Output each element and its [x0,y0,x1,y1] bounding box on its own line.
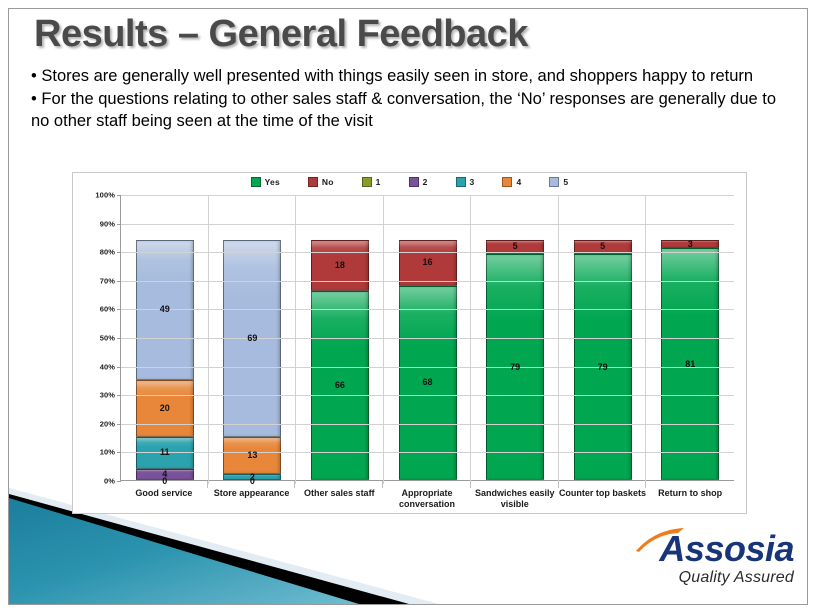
legend-swatch-icon [362,177,372,187]
x-axis-label: Appropriate conversation [383,488,471,511]
plot-wrapper: 100%90%80%70%60%50%40%30%20%10%0% 411204… [73,195,742,513]
gridline [121,252,734,253]
stacked-bar[interactable]: 795 [574,240,632,480]
gridline [121,195,734,196]
bar-segment-label: 68 [423,378,433,387]
y-axis-tick [117,481,121,482]
y-axis-tick [117,338,121,339]
legend-label: 4 [516,177,521,187]
bar-segment-label: 79 [510,363,520,372]
bar-zero-label: 0 [162,477,167,486]
x-axis-category: Appropriate conversation [383,483,471,527]
bar-segment-label: 3 [688,240,693,249]
bullet-list: • Stores are generally well presented wi… [31,66,791,133]
gridline [121,281,734,282]
bar-segment-label: 66 [335,381,345,390]
gridline [121,367,734,368]
legend-swatch-icon [251,177,261,187]
y-axis-tick-label: 80% [100,248,115,257]
y-axis-tick-label: 70% [100,276,115,285]
y-axis-tick [117,395,121,396]
y-axis-tick-label: 90% [100,219,115,228]
bar-segment-label: 81 [685,360,695,369]
logo-wordmark: Assosia [624,531,794,567]
y-axis-tick [117,309,121,310]
y-axis-tick-label: 40% [100,362,115,371]
y-axis-tick [117,452,121,453]
bar-segment-no[interactable]: 16 [399,240,457,286]
y-axis-tick-label: 100% [95,191,115,200]
x-axis-category: Other sales staff [295,483,383,527]
x-axis-label: Good service [120,488,208,499]
bar-segment-yes[interactable]: 81 [661,248,719,480]
legend-swatch-icon [409,177,419,187]
y-axis-tick-label: 30% [100,391,115,400]
legend-label: 3 [470,177,475,187]
bar-segment-label: 5 [600,242,605,251]
bar-segment-label: 13 [247,451,257,460]
legend-swatch-icon [549,177,559,187]
slide: Results – General Feedback • Stores are … [0,0,816,613]
assosia-logo: Assosia Quality Assured [624,531,794,597]
bar-segment-no[interactable]: 18 [311,240,369,291]
y-axis-tick-label: 50% [100,334,115,343]
gridline [121,338,734,339]
x-axis: Good serviceStore appearanceOther sales … [120,483,734,527]
gridline [121,309,734,310]
y-axis-tick [117,281,121,282]
bullet-item: • Stores are generally well presented wi… [31,66,791,88]
x-axis-label: Return to shop [646,488,734,499]
logo-tagline: Quality Assured [624,569,794,587]
y-axis: 100%90%80%70%60%50%40%30%20%10%0% [79,195,115,481]
bar-segment-label: 20 [160,404,170,413]
legend-item-no[interactable]: No [308,177,334,187]
gridline [121,452,734,453]
gridline [121,224,734,225]
bar-segment-label: 11 [160,448,170,457]
bullet-item: • For the questions relating to other sa… [31,89,791,133]
legend-label: 2 [423,177,428,187]
x-axis-category: Counter top baskets [559,483,647,527]
legend-swatch-icon [308,177,318,187]
legend-label: 1 [376,177,381,187]
bar-segment-label: 69 [247,334,257,343]
bar-zero-label: 0 [250,477,255,486]
y-axis-tick [117,252,121,253]
x-axis-category: Return to shop [646,483,734,527]
chart-container: YesNo12345 100%90%80%70%60%50%40%30%20%1… [72,172,747,514]
legend-swatch-icon [502,177,512,187]
x-axis-label: Counter top baskets [559,488,647,499]
bar-segment-4[interactable]: 20 [136,380,194,437]
bar-segment-no[interactable]: 3 [661,240,719,249]
x-axis-category: Store appearance [208,483,296,527]
y-axis-tick-label: 0% [104,477,115,486]
stacked-bar[interactable]: 4112049 [136,240,194,480]
y-axis-tick-label: 20% [100,419,115,428]
bar-segment-label: 16 [423,258,433,267]
gridline [121,424,734,425]
stacked-bar[interactable]: 813 [661,240,719,480]
x-axis-label: Other sales staff [295,488,383,499]
legend-label: 5 [563,177,568,187]
legend-item-1[interactable]: 1 [362,177,381,187]
y-axis-tick-label: 10% [100,448,115,457]
page-title: Results – General Feedback [34,14,754,56]
bar-segment-label: 5 [513,242,518,251]
bar-segment-4[interactable]: 13 [223,437,281,474]
chart-legend: YesNo12345 [73,177,746,193]
y-axis-tick [117,424,121,425]
legend-item-3[interactable]: 3 [456,177,475,187]
gridline [121,395,734,396]
bar-segment-label: 18 [335,261,345,270]
bar-segment-label: 49 [160,305,170,314]
legend-item-4[interactable]: 4 [502,177,521,187]
bar-segment-yes[interactable]: 68 [399,286,457,480]
y-axis-tick [117,367,121,368]
bar-segment-label: 79 [598,363,608,372]
plot-area: 4112049021369066186816795795813 [120,195,734,481]
y-axis-tick-label: 60% [100,305,115,314]
x-axis-label: Store appearance [208,488,296,499]
stacked-bar[interactable]: 21369 [223,240,281,480]
legend-item-2[interactable]: 2 [409,177,428,187]
y-axis-tick [117,195,121,196]
y-axis-tick [117,224,121,225]
legend-item-5[interactable]: 5 [549,177,568,187]
stacked-bar[interactable]: 6816 [399,240,457,480]
stacked-bar[interactable]: 6618 [311,240,369,480]
legend-label: Yes [265,177,280,187]
legend-item-yes[interactable]: Yes [251,177,280,187]
legend-swatch-icon [456,177,466,187]
x-axis-category: Sandwiches easily visible [471,483,559,527]
stacked-bar[interactable]: 795 [486,240,544,480]
x-axis-label: Sandwiches easily visible [471,488,559,511]
legend-label: No [322,177,334,187]
x-axis-category: Good service [120,483,208,527]
